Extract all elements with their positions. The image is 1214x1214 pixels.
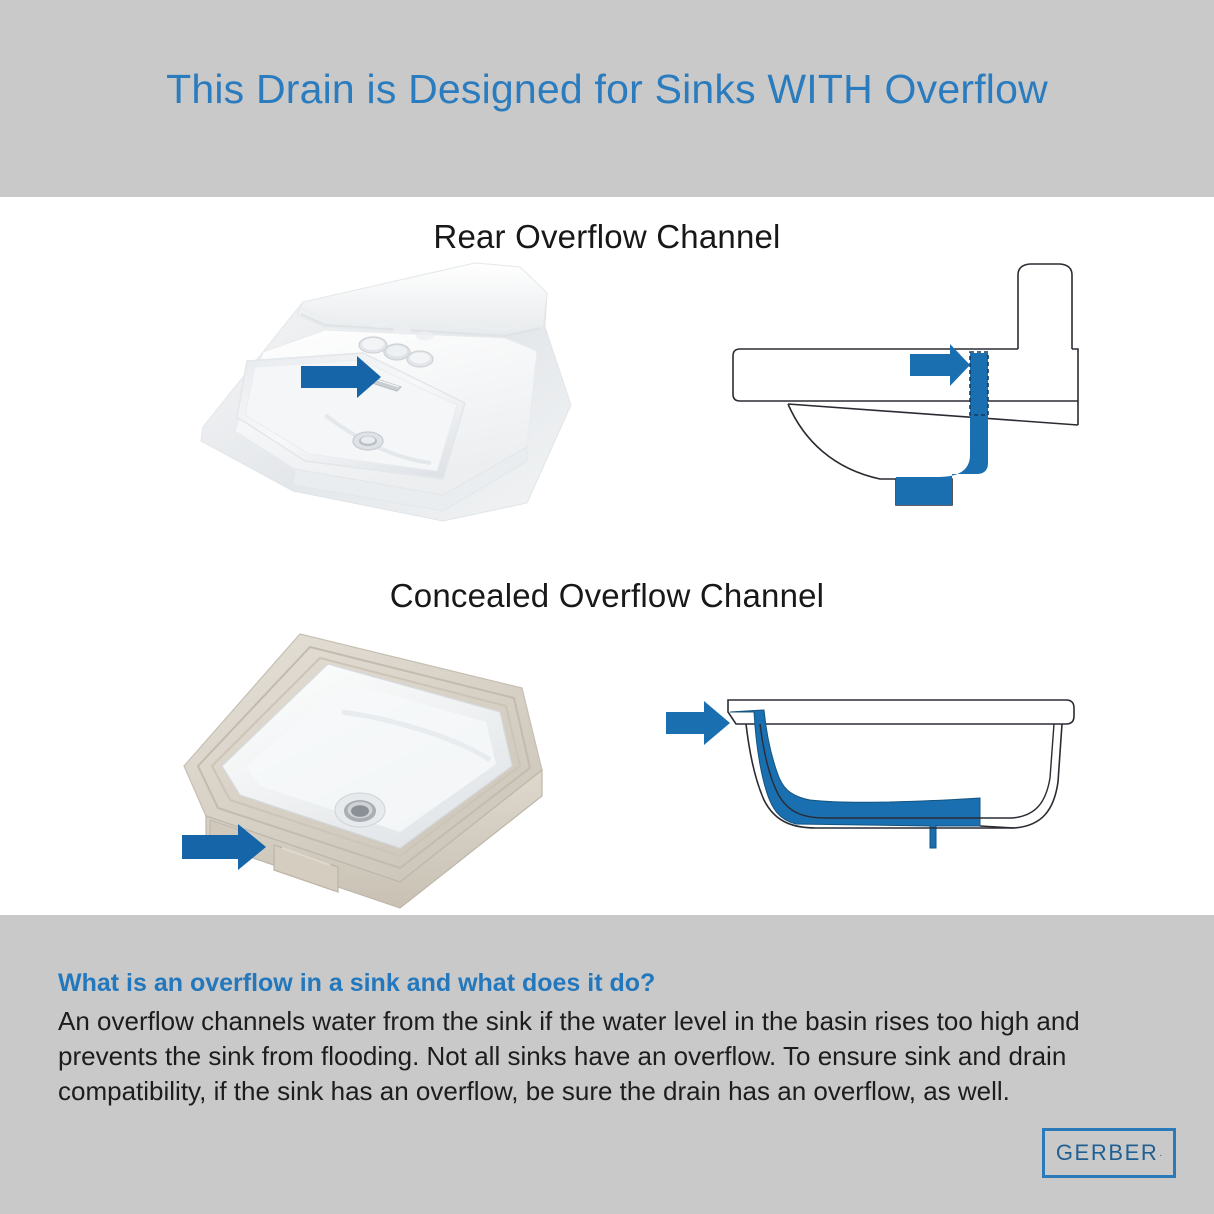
undermount-sink-illustration bbox=[170, 620, 590, 910]
concealed-overflow-diagram bbox=[650, 660, 1100, 890]
gerber-logo-text: GERBER bbox=[1056, 1140, 1159, 1166]
footer-body-text: An overflow channels water from the sink… bbox=[58, 1004, 1148, 1109]
concealed-overflow-cross-section bbox=[650, 660, 1100, 890]
wall-mount-sink-illustration bbox=[175, 255, 595, 545]
page-title: This Drain is Designed for Sinks WITH Ov… bbox=[0, 66, 1214, 113]
rear-overflow-cross-section bbox=[700, 255, 1100, 525]
section-heading-rear-overflow: Rear Overflow Channel bbox=[0, 218, 1214, 256]
footer-question-heading: What is an overflow in a sink and what d… bbox=[58, 969, 655, 998]
gerber-logo: GERBER. bbox=[1042, 1128, 1176, 1178]
overflow-pointer-arrow bbox=[666, 701, 730, 745]
infographic-page: This Drain is Designed for Sinks WITH Ov… bbox=[0, 0, 1214, 1214]
wall-mount-sink-photo bbox=[175, 255, 595, 545]
rear-overflow-diagram bbox=[700, 255, 1100, 525]
gerber-logo-registered-mark: . bbox=[1159, 1148, 1162, 1159]
undermount-sink-photo bbox=[170, 620, 590, 910]
section-heading-concealed-overflow: Concealed Overflow Channel bbox=[0, 577, 1214, 615]
